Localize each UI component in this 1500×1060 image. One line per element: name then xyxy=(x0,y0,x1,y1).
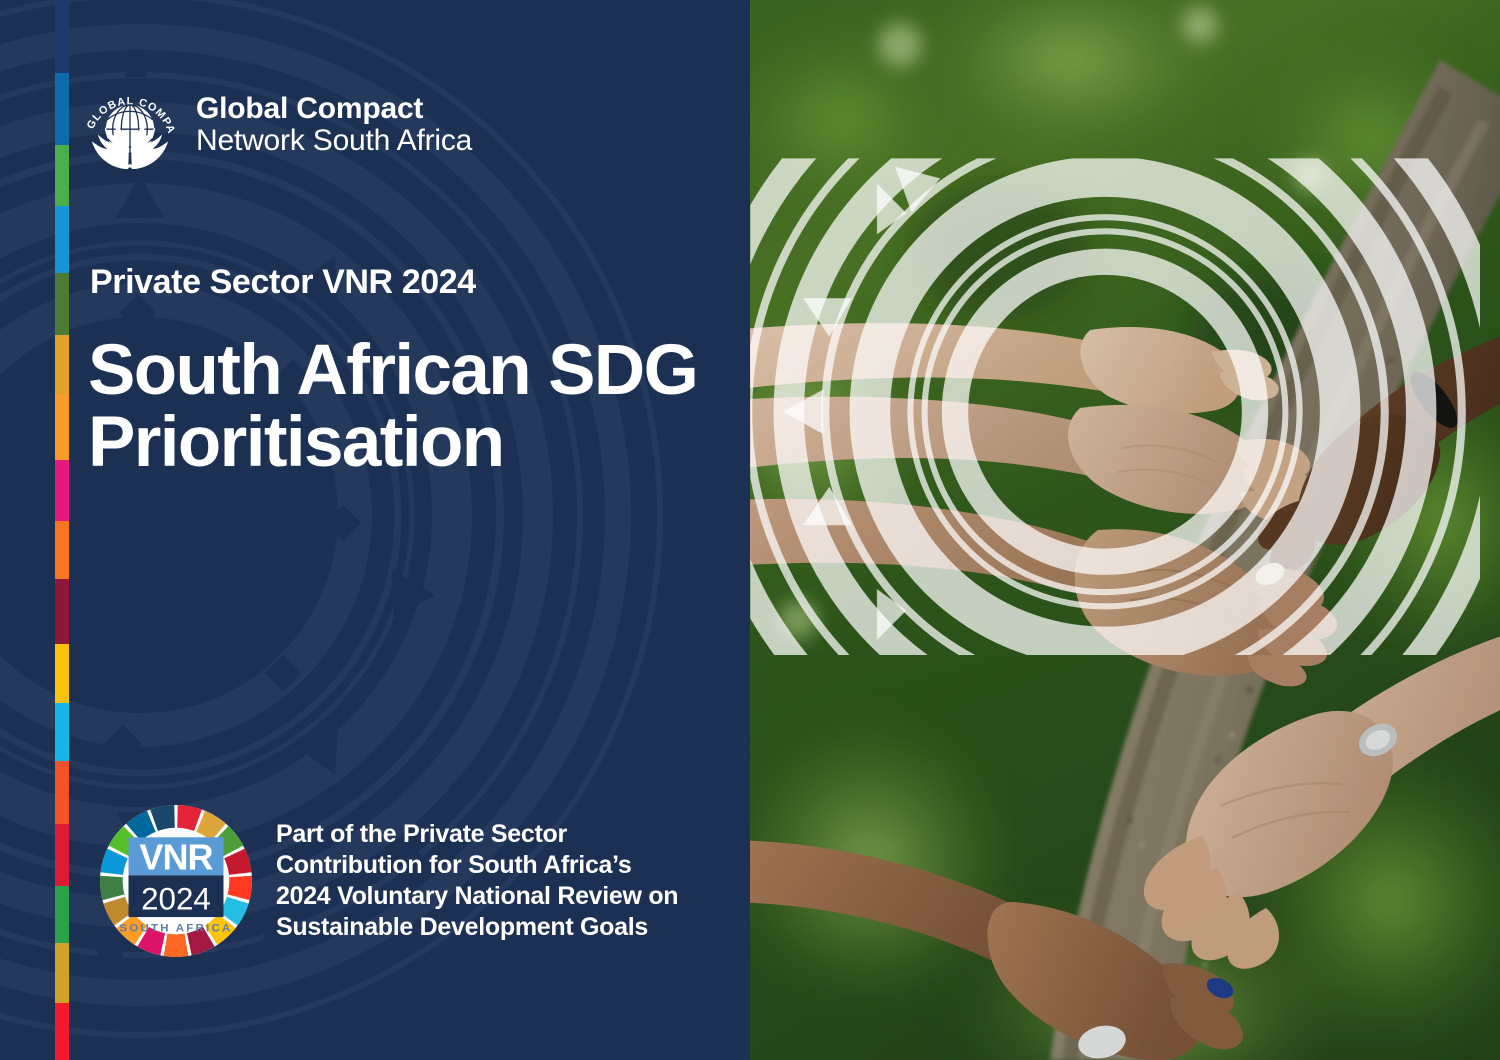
stripe-segment-4 xyxy=(55,206,69,273)
cover-photo xyxy=(750,0,1500,1060)
badge-country-text: SOUTH AFRICA xyxy=(120,922,233,934)
footer-lockup: VNR 2024 SOUTH AFRICA Part of the Privat… xyxy=(100,805,678,957)
stripe-segment-12 xyxy=(55,703,69,760)
stripe-segment-17 xyxy=(55,1003,69,1060)
hands-on-tree-photo-illustration xyxy=(750,0,1500,1060)
vnr-2024-south-africa-badge-icon: VNR 2024 SOUTH AFRICA xyxy=(100,805,252,957)
kicker-text: Private Sector VNR 2024 xyxy=(90,263,476,302)
stripe-segment-2 xyxy=(55,73,69,144)
sdg-wheel-segment-9 xyxy=(164,934,189,957)
document-cover: UN GLOBAL COMPACT xyxy=(0,0,1500,1060)
title-line-2: Prioritisation xyxy=(88,407,738,479)
page-title: South African SDG Prioritisation xyxy=(88,335,738,480)
stripe-segment-13 xyxy=(55,761,69,824)
stripe-segment-9 xyxy=(55,521,69,578)
ungc-name-line1: Global Compact xyxy=(196,93,472,125)
stripe-segment-14 xyxy=(55,824,69,885)
footer-line-2: Contribution for South Africa’s xyxy=(276,850,678,881)
stripe-segment-7 xyxy=(55,394,69,459)
stripe-segment-8 xyxy=(55,460,69,521)
badge-vnr-text: VNR xyxy=(139,837,213,878)
stripe-segment-5 xyxy=(55,273,69,334)
stripe-segment-16 xyxy=(55,943,69,1002)
stripe-segment-11 xyxy=(55,644,69,703)
stripe-segment-1 xyxy=(55,0,69,73)
ungc-name-line2: Network South Africa xyxy=(196,125,472,157)
stripe-segment-10 xyxy=(55,579,69,644)
sdg-colour-stripe xyxy=(55,0,69,1060)
stripe-segment-15 xyxy=(55,886,69,943)
left-panel: UN GLOBAL COMPACT xyxy=(0,0,750,1060)
stripe-segment-6 xyxy=(55,335,69,394)
title-line-1: South African SDG xyxy=(88,335,738,407)
footer-line-3: 2024 Voluntary National Review on xyxy=(276,881,678,912)
footer-description: Part of the Private Sector Contribution … xyxy=(276,819,678,944)
footer-line-1: Part of the Private Sector xyxy=(276,819,678,850)
un-global-compact-emblem-icon: UN GLOBAL COMPACT xyxy=(78,72,182,176)
footer-line-4: Sustainable Development Goals xyxy=(276,912,678,943)
badge-year-text: 2024 xyxy=(141,882,211,917)
stripe-segment-3 xyxy=(55,145,69,206)
un-global-compact-logo: UN GLOBAL COMPACT xyxy=(78,72,472,176)
